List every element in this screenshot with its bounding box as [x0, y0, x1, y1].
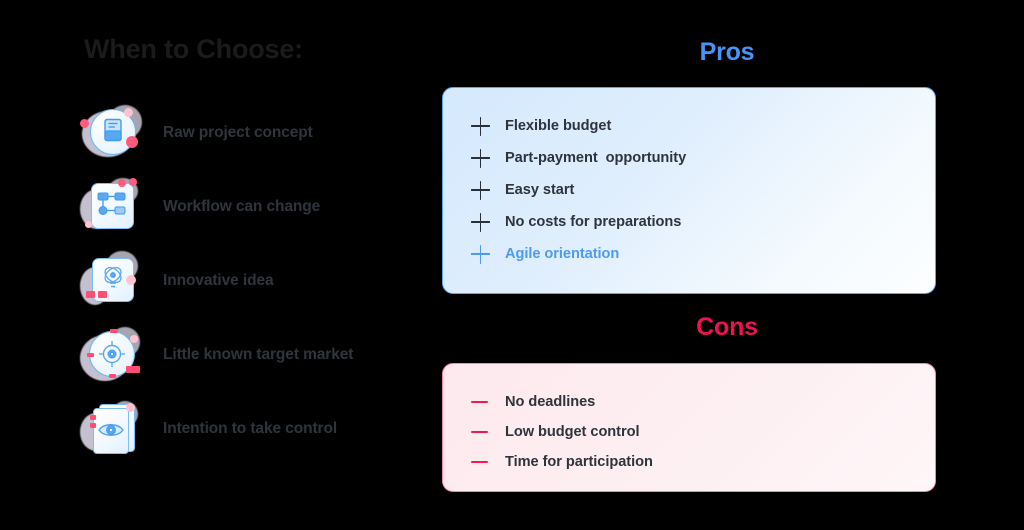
- cons-panel: No deadlines Low budget control Time for…: [442, 363, 936, 492]
- pros-label: Agile orientation: [505, 246, 619, 262]
- workflow-diagram-icon: [80, 177, 146, 237]
- when-to-choose-list: Raw project concept: [80, 96, 430, 466]
- list-item-label: Little known target market: [163, 346, 353, 364]
- pros-row[interactable]: Easy start: [471, 174, 935, 206]
- document-glyph: [101, 118, 125, 144]
- cons-row[interactable]: Low budget control: [471, 417, 935, 447]
- pros-label: Easy start: [505, 182, 574, 198]
- cons-heading: Cons: [430, 313, 1024, 342]
- minus-icon: [471, 401, 505, 403]
- plus-icon: [471, 245, 505, 264]
- cons-label: No deadlines: [505, 394, 595, 410]
- list-item[interactable]: Little known target market: [80, 318, 430, 392]
- page-title: When to Choose:: [84, 34, 303, 65]
- innovation-bulb-icon: [80, 251, 146, 311]
- minus-icon: [471, 461, 505, 463]
- pros-row[interactable]: Part-payment opportunity: [471, 142, 935, 174]
- pros-label: No costs for preparations: [505, 214, 681, 230]
- cons-label: Time for participation: [505, 454, 653, 470]
- pros-cons-section: Pros Flexible budget Part-payment opport…: [430, 0, 1024, 530]
- when-to-choose-section: When to Choose:: [0, 0, 430, 530]
- target-radar-icon: [80, 325, 146, 385]
- pros-label: Part-payment opportunity: [505, 150, 686, 166]
- plus-icon: [471, 117, 505, 136]
- pros-panel: Flexible budget Part-payment opportunity…: [442, 87, 936, 294]
- list-item[interactable]: Workflow can change: [80, 170, 430, 244]
- cons-row[interactable]: Time for participation: [471, 447, 935, 477]
- plus-icon: [471, 213, 505, 232]
- comparison-infographic: When to Choose:: [0, 0, 1024, 530]
- list-item[interactable]: Innovative idea: [80, 244, 430, 318]
- document-eye-icon: [80, 399, 146, 459]
- plus-icon: [471, 181, 505, 200]
- document-circle-icon: [80, 103, 146, 163]
- minus-icon: [471, 431, 505, 433]
- pros-row[interactable]: No costs for preparations: [471, 206, 935, 238]
- plus-icon: [471, 149, 505, 168]
- list-item-label: Workflow can change: [163, 198, 320, 216]
- list-item-label: Innovative idea: [163, 272, 273, 290]
- list-item[interactable]: Raw project concept: [80, 96, 430, 170]
- list-item[interactable]: Intention to take control: [80, 392, 430, 466]
- pros-heading: Pros: [430, 38, 1024, 67]
- list-item-label: Intention to take control: [163, 420, 337, 438]
- target-gear-glyph: [99, 341, 125, 367]
- cons-row[interactable]: No deadlines: [471, 387, 935, 417]
- pros-row-highlighted[interactable]: Agile orientation: [471, 238, 935, 270]
- flowchart-glyph: [97, 191, 127, 219]
- cons-label: Low budget control: [505, 424, 639, 440]
- list-item-label: Raw project concept: [163, 124, 313, 142]
- eye-glyph: [98, 420, 124, 440]
- pros-label: Flexible budget: [505, 118, 611, 134]
- bulb-atom-glyph: [101, 265, 125, 293]
- pros-row[interactable]: Flexible budget: [471, 110, 935, 142]
